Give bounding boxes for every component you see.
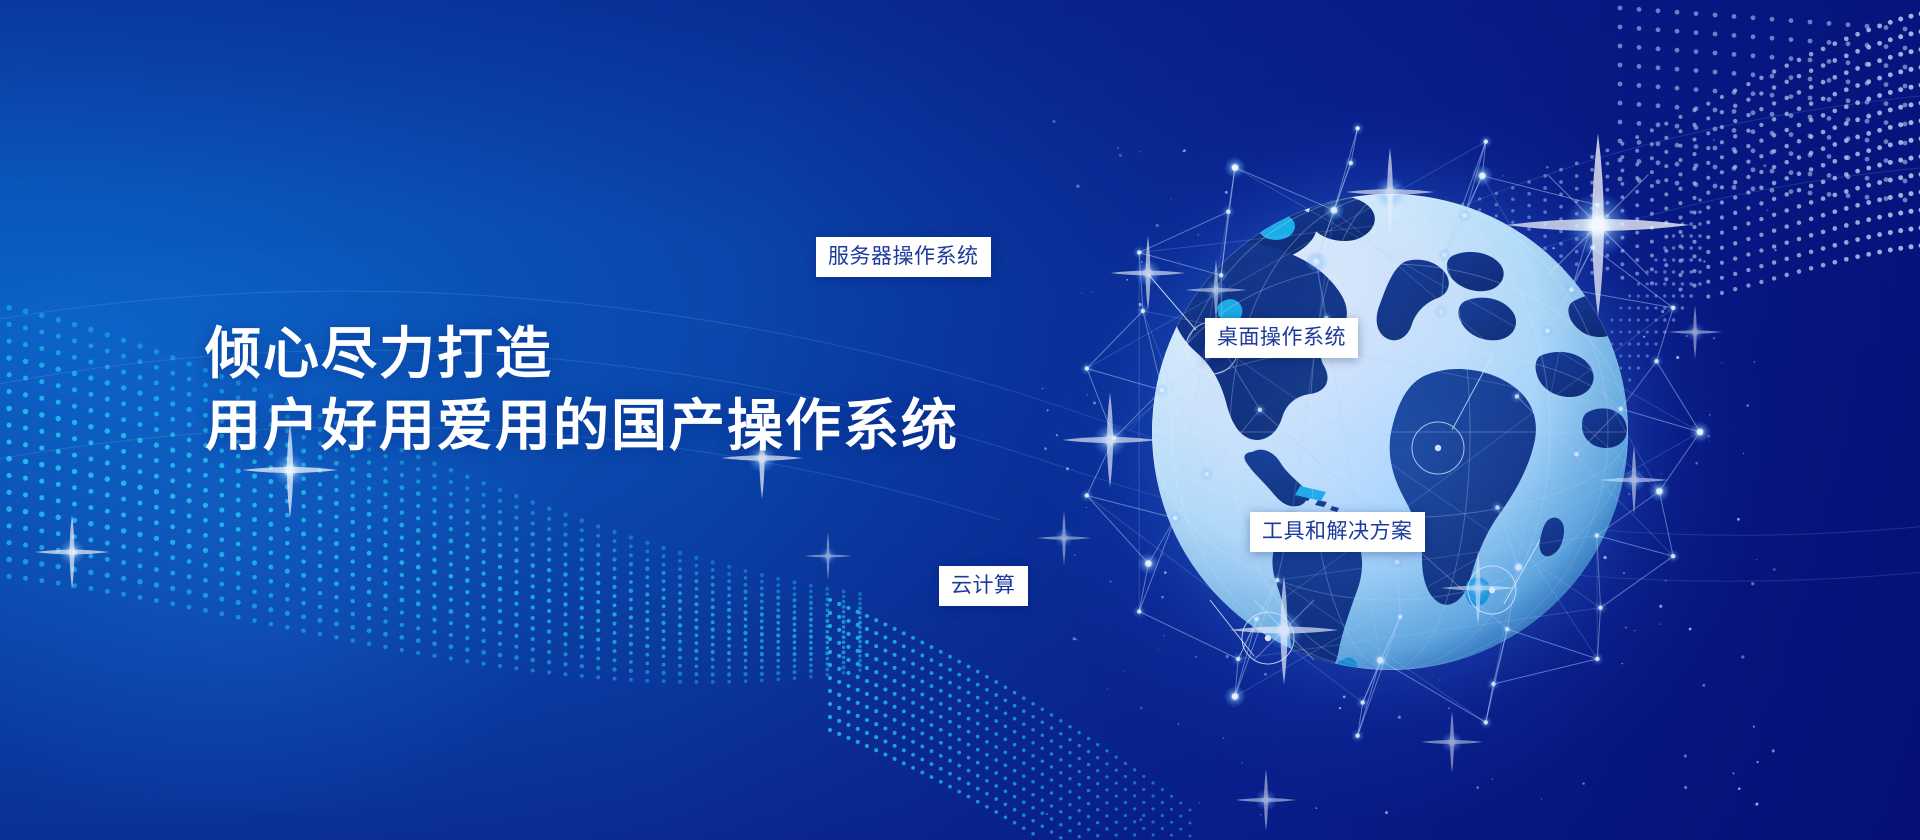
hero-banner: 倾心尽力打造 用户好用爱用的国产操作系统 服务器操作系统 桌面操作系统 工具和解…	[0, 0, 1920, 840]
star-sparkle-icon	[804, 532, 852, 580]
label-tools-solutions[interactable]: 工具和解决方案	[1250, 512, 1425, 552]
label-cloud-computing[interactable]: 云计算	[939, 566, 1028, 606]
star-sparkle-icon	[35, 515, 110, 590]
label-server-os[interactable]: 服务器操作系统	[816, 237, 991, 277]
star-sparkle-icon	[1235, 769, 1296, 830]
headline-line-1: 倾心尽力打造	[205, 318, 959, 390]
hero-headline: 倾心尽力打造 用户好用爱用的国产操作系统	[205, 318, 959, 461]
star-sparkle-icon	[1037, 511, 1091, 565]
headline-line-2: 用户好用爱用的国产操作系统	[205, 390, 959, 462]
label-desktop-os[interactable]: 桌面操作系统	[1205, 318, 1358, 358]
